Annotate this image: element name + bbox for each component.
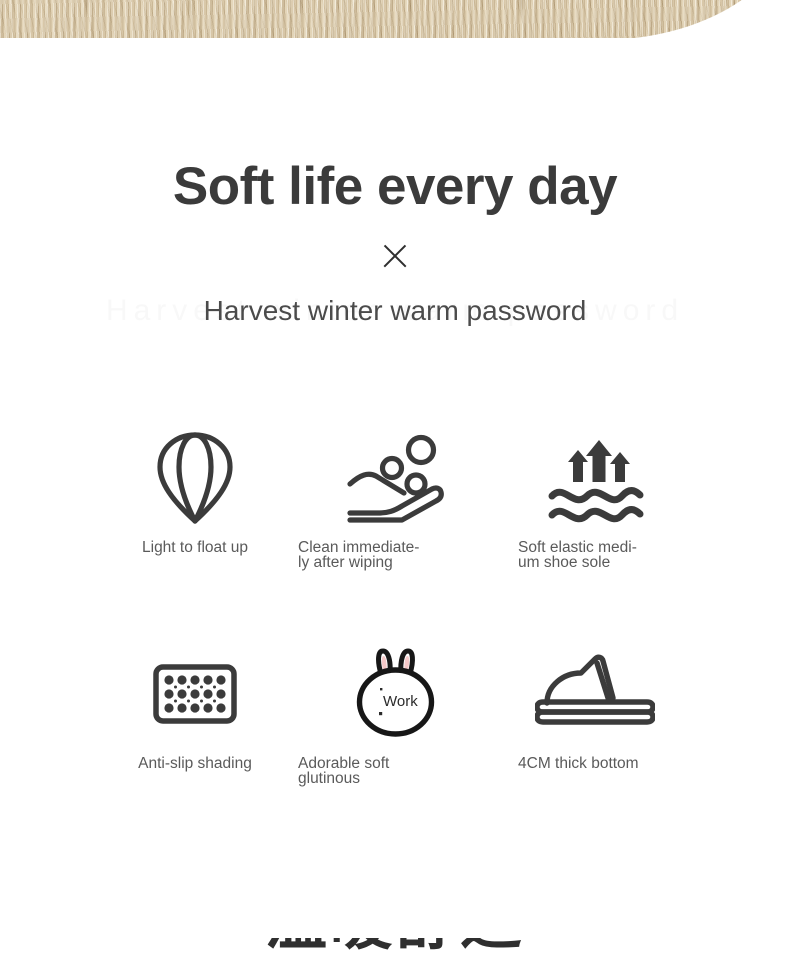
x-cross-icon <box>378 239 412 273</box>
feature-row: Anti-slip shading Work <box>0 646 790 786</box>
footer-clipped-text: 温暖舒适 <box>0 938 790 954</box>
hot-air-balloon-icon <box>152 430 238 526</box>
feature-item-light-float: Light to float up <box>96 430 294 570</box>
hero-banner <box>0 0 790 38</box>
feature-item-thick-bottom: 4CM thick bottom <box>496 646 694 786</box>
feature-grid: Light to float up Clean immediate- ly af… <box>0 430 790 786</box>
feature-label: 4CM thick bottom <box>518 756 639 771</box>
rabbit-inner-text: Work <box>383 693 418 710</box>
slipper-side-icon <box>535 646 655 742</box>
feature-label: Clean immediate- ly after wiping <box>298 540 419 570</box>
rabbit-head-icon: Work <box>347 646 447 742</box>
feature-item-anti-slip: Anti-slip shading <box>96 646 294 786</box>
headline-block: Soft life every day Harvest winter warm … <box>0 160 790 333</box>
feature-row: Light to float up Clean immediate- ly af… <box>0 430 790 570</box>
feature-label: Anti-slip shading <box>138 756 252 771</box>
footer-clipped-banner: 温暖舒适 <box>0 938 790 960</box>
hand-with-bubbles-icon <box>344 430 450 526</box>
feature-label: Adorable soft glutinous <box>298 756 389 786</box>
arrows-over-waves-icon <box>542 430 648 526</box>
fur-texture-image <box>0 0 790 38</box>
feature-item-clean-wipe: Clean immediate- ly after wiping <box>298 430 496 570</box>
feature-label: Soft elastic medi- um shoe sole <box>518 540 637 570</box>
subtitle-wrap: Harvest winter warm password Harvest win… <box>0 289 790 333</box>
feature-item-adorable-soft: Work Adorable soft glutinous <box>298 646 496 786</box>
page-subtitle: Harvest winter warm password <box>0 289 790 333</box>
dotted-grid-sole-icon <box>149 646 241 742</box>
feature-label: Light to float up <box>142 540 248 555</box>
page-title: Soft life every day <box>0 160 790 213</box>
feature-item-elastic-sole: Soft elastic medi- um shoe sole <box>496 430 694 570</box>
